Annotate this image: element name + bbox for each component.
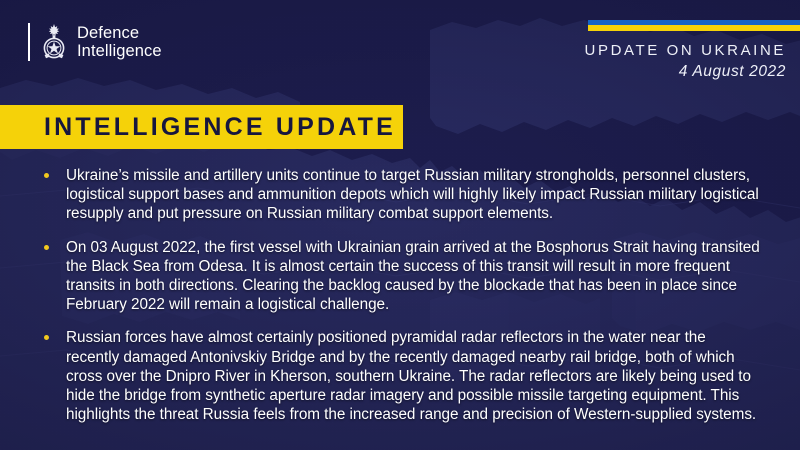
bullet-text: Russian forces have almost certainly pos… [66, 328, 762, 424]
list-item: Ukraine’s missile and artillery units co… [44, 166, 762, 224]
logo-line-defence: Defence [77, 24, 162, 42]
logo-divider-rule [28, 23, 30, 61]
flag-stripe-yellow [588, 25, 800, 31]
ukraine-flag-bar-icon [588, 20, 800, 31]
update-on-ukraine-block: UPDATE ON UKRAINE 4 August 2022 [500, 20, 800, 81]
bullet-list: Ukraine’s missile and artillery units co… [44, 166, 762, 424]
update-date: 4 August 2022 [500, 63, 800, 81]
logo-wordmark: Defence Intelligence [77, 24, 162, 60]
defence-intelligence-crest-icon [39, 22, 69, 62]
bullet-dot-icon [44, 245, 49, 250]
bullet-text: Ukraine’s missile and artillery units co… [66, 166, 762, 224]
list-item: On 03 August 2022, the first vessel with… [44, 238, 762, 315]
bullet-dot-icon [44, 173, 49, 178]
intelligence-update-banner: INTELLIGENCE UPDATE [0, 105, 403, 149]
update-title: UPDATE ON UKRAINE [500, 42, 800, 59]
defence-intelligence-logo: Defence Intelligence [28, 22, 162, 62]
bullet-text: On 03 August 2022, the first vessel with… [66, 238, 762, 315]
bullet-dot-icon [44, 335, 49, 340]
banner-title: INTELLIGENCE UPDATE [0, 113, 396, 142]
list-item: Russian forces have almost certainly pos… [44, 328, 762, 424]
intelligence-update-slide: Defence Intelligence UPDATE ON UKRAINE 4… [0, 0, 800, 450]
logo-line-intelligence: Intelligence [77, 42, 162, 60]
